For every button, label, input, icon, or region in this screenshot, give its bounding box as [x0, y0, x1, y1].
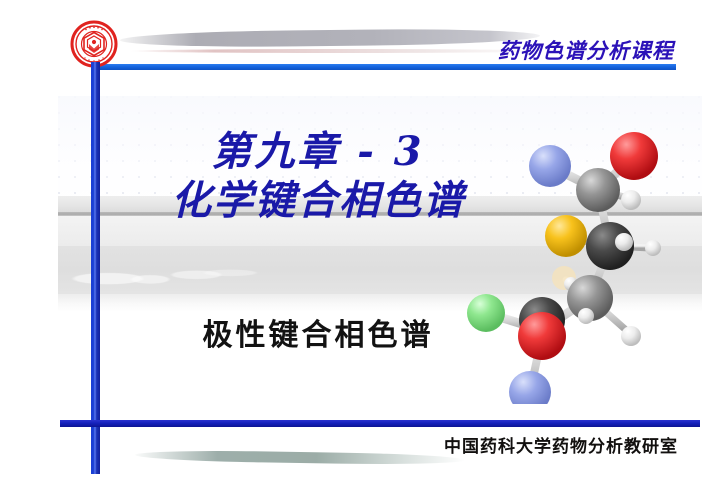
university-seal-logo	[70, 20, 118, 68]
vertical-accent-bar	[91, 62, 100, 474]
footer-divider-rule	[60, 420, 700, 427]
slide-subtitle: 极性键合相色谱	[108, 310, 528, 354]
footer-swoosh-shape	[135, 449, 465, 465]
slide-title: 第九章 - 3 化学键合相色谱	[108, 128, 528, 226]
presentation-slide: 药物色谱分析课程	[0, 0, 702, 496]
slide-title-line-2: 化学键合相色谱	[108, 177, 528, 226]
slide-title-line-1: 第九章 - 3	[108, 128, 528, 177]
affiliation-text: 中国药科大学药物分析教研室	[444, 432, 678, 457]
course-title: 药物色谱分析课程	[498, 35, 674, 65]
header-swoosh-thin-shape	[130, 49, 550, 53]
header-swoosh-shape	[120, 28, 540, 48]
decor-band-lower	[58, 246, 702, 294]
